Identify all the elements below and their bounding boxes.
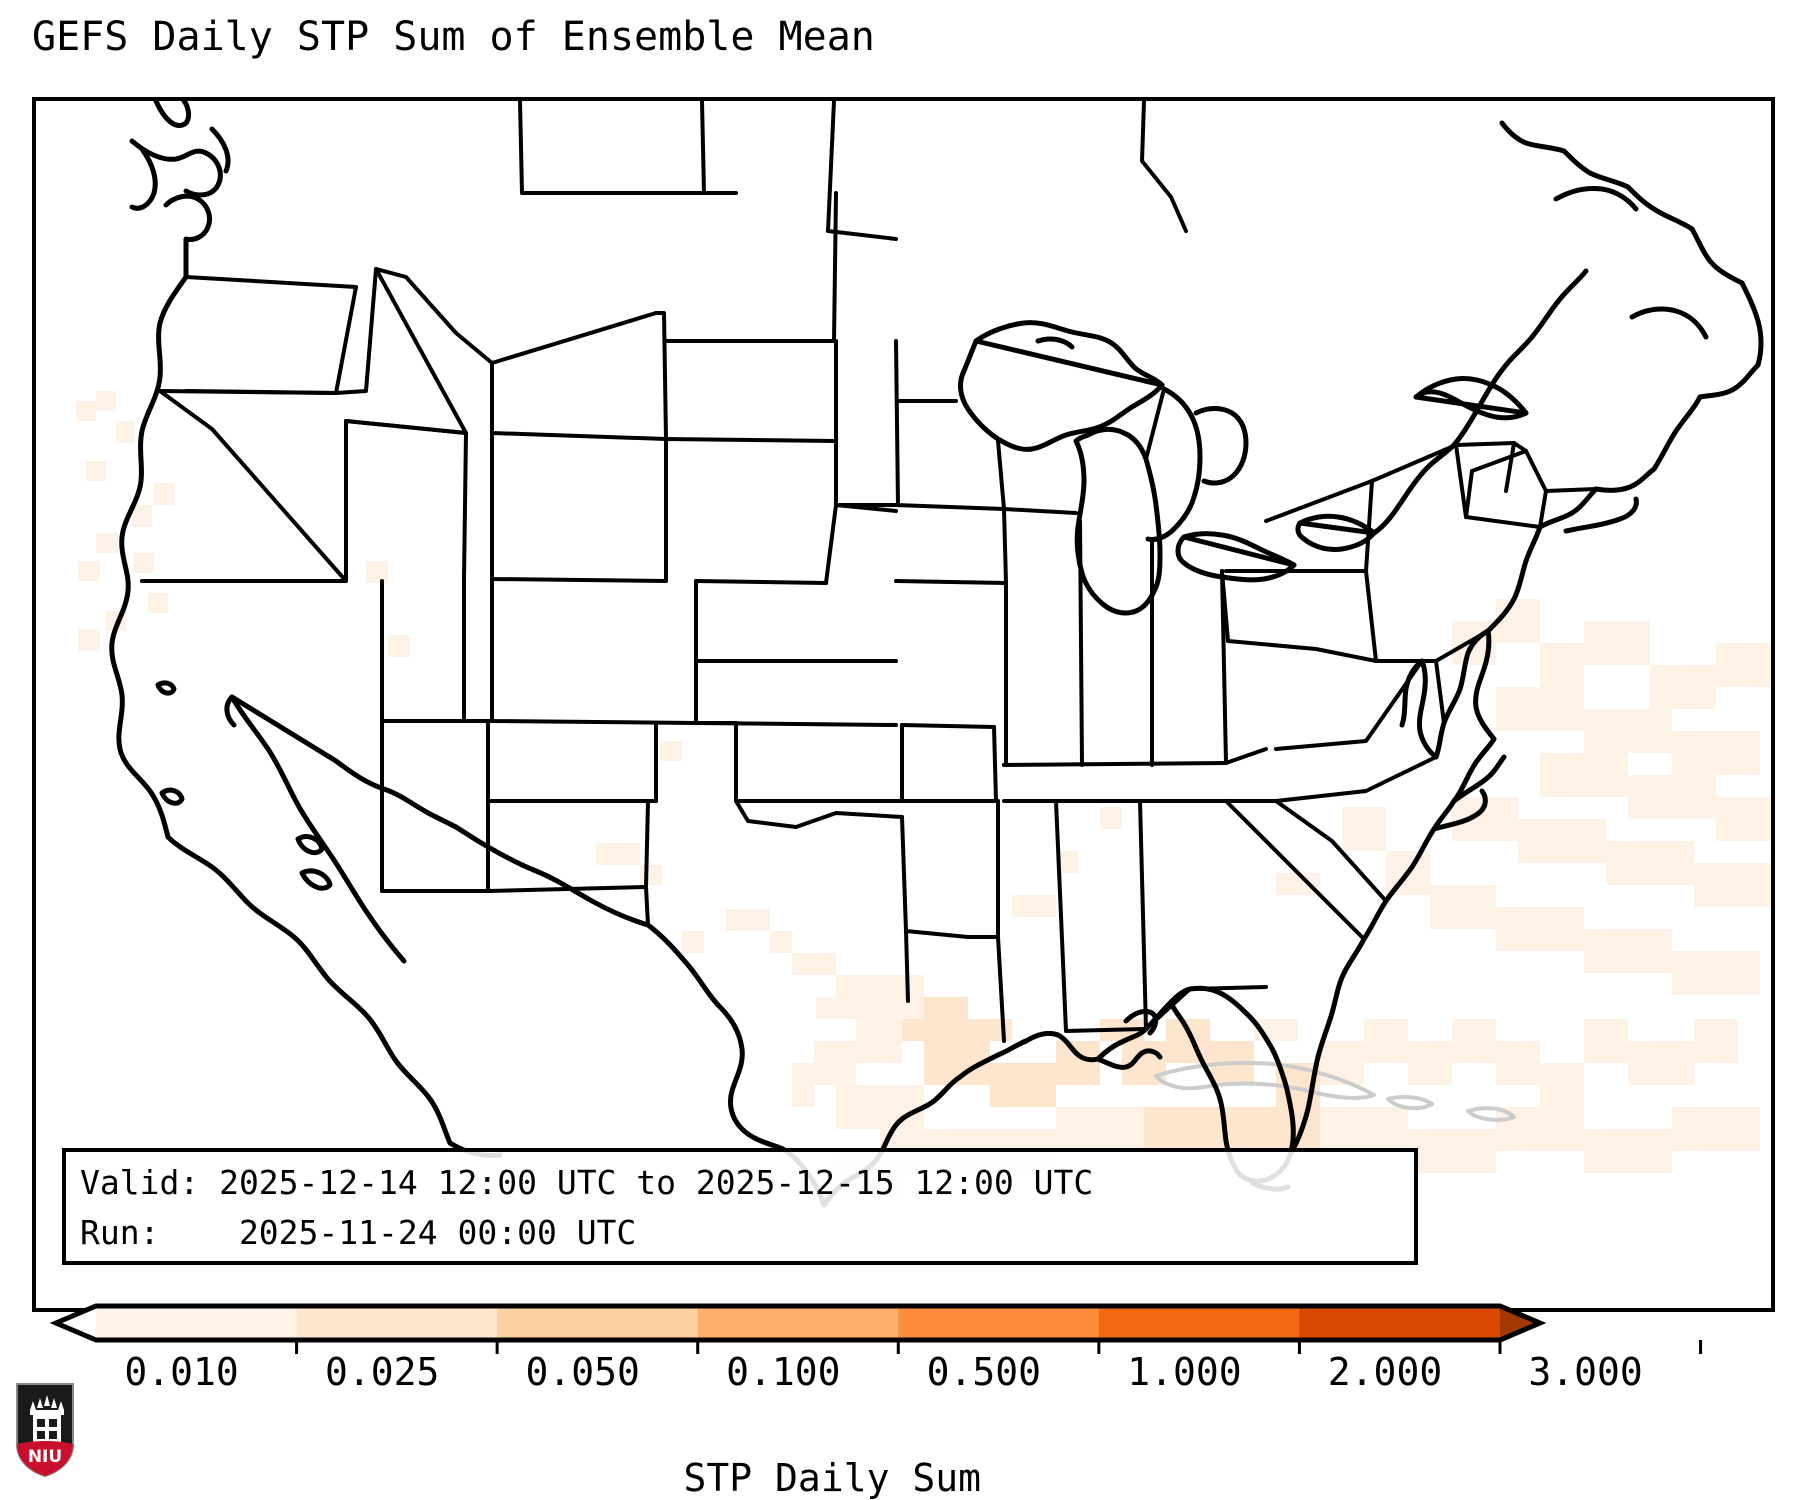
data-cell <box>1496 1041 1540 1085</box>
data-cell <box>1100 807 1122 829</box>
data-cell <box>770 931 792 953</box>
data-cell <box>814 1041 856 1085</box>
data-cell <box>816 997 880 1019</box>
data-cell <box>726 909 770 931</box>
data-cell <box>1540 1063 1584 1107</box>
data-cell <box>86 461 106 481</box>
data-cell <box>154 483 174 505</box>
colorbar-tick-label: 0.500 <box>927 1350 1041 1394</box>
colorbar-tick-labels: 0.0100.0250.0500.1000.5001.0002.0003.000 <box>0 1350 1803 1398</box>
data-cell <box>682 931 704 953</box>
data-cell <box>134 553 154 573</box>
data-grid-cells <box>76 391 1771 1195</box>
data-cell <box>856 1019 902 1063</box>
data-cell <box>1364 1019 1408 1063</box>
data-cell <box>1056 1041 1100 1085</box>
page-title: GEFS Daily STP Sum of Ensemble Mean <box>32 14 875 60</box>
data-cell <box>1584 1019 1628 1063</box>
colorbar-tick-label: 3.000 <box>1528 1350 1642 1394</box>
valid-time-line: Valid: 2025-12-14 12:00 UTC to 2025-12-1… <box>80 1158 1400 1208</box>
colorbar-tick-label: 0.010 <box>124 1350 238 1394</box>
data-cell <box>1584 1129 1672 1173</box>
data-cell <box>640 865 662 885</box>
data-cell <box>1320 1107 1408 1151</box>
data-cell <box>1276 873 1320 895</box>
data-cell <box>96 391 116 411</box>
data-cell <box>1672 1107 1760 1151</box>
colorbar-tick-label: 0.100 <box>726 1350 840 1394</box>
data-cell <box>1408 1129 1496 1173</box>
map-panel[interactable] <box>32 97 1775 1312</box>
colorbar-title: STP Daily Sum <box>0 1412 1803 1500</box>
data-cell <box>1496 907 1584 951</box>
data-cell <box>1584 929 1672 973</box>
data-cell <box>366 561 388 583</box>
info-box: Valid: 2025-12-14 12:00 UTC to 2025-12-1… <box>62 1148 1418 1265</box>
colorbar-band <box>898 1306 1099 1340</box>
data-cell <box>78 629 100 651</box>
data-cell <box>388 635 410 657</box>
data-cell <box>924 997 968 1019</box>
data-cell <box>792 953 836 975</box>
provincial-borders <box>520 101 1186 239</box>
logo-text: NIU <box>28 1447 62 1467</box>
data-cell <box>1628 1041 1694 1085</box>
data-cell <box>1496 599 1540 643</box>
colorbar[interactable] <box>0 1296 1803 1356</box>
colorbar-band <box>1299 1306 1500 1340</box>
data-cell <box>1694 863 1771 907</box>
data-cell <box>660 741 682 761</box>
map-svg <box>36 101 1771 1308</box>
data-cell <box>1452 1019 1496 1063</box>
data-cell <box>1694 1019 1738 1063</box>
colorbar-band <box>297 1306 498 1340</box>
data-cell <box>96 533 118 553</box>
data-cell <box>1408 1041 1452 1085</box>
colorbar-band <box>698 1306 899 1340</box>
data-cell <box>792 1063 814 1107</box>
data-cell <box>76 401 96 421</box>
weather-map-figure: GEFS Daily STP Sum of Ensemble Mean <box>0 0 1803 1500</box>
data-cell <box>1144 1107 1232 1151</box>
data-cell <box>990 1063 1056 1107</box>
data-cell <box>836 975 880 997</box>
data-cell <box>836 1085 924 1129</box>
colorbar-title-text: STP Daily Sum <box>684 1456 981 1500</box>
data-cell <box>1716 643 1771 687</box>
colorbar-tick-label: 2.000 <box>1328 1350 1442 1394</box>
colorbar-tick-label: 1.000 <box>1127 1350 1241 1394</box>
data-cell <box>1672 951 1760 995</box>
data-cell <box>132 505 152 527</box>
data-cell <box>116 421 134 443</box>
data-cell <box>1540 643 1584 687</box>
data-cell <box>902 1019 968 1041</box>
colorbar-svg <box>0 1296 1803 1356</box>
niu-logo: NIU <box>14 1382 76 1478</box>
data-cell <box>1540 753 1628 797</box>
data-cell <box>1584 621 1650 665</box>
data-cell <box>1012 895 1056 917</box>
colorbar-tick-label: 0.050 <box>526 1350 640 1394</box>
data-cell <box>1584 709 1672 753</box>
colorbar-bands <box>56 1306 1540 1340</box>
data-cell <box>1430 885 1496 929</box>
data-cell <box>880 975 924 1019</box>
data-cell <box>1650 665 1716 709</box>
data-cell <box>1628 775 1716 819</box>
data-cell <box>1672 731 1760 775</box>
data-cell <box>1496 687 1584 731</box>
data-cell <box>1606 841 1694 885</box>
colorbar-band <box>96 1306 297 1340</box>
run-time-line: Run: 2025-11-24 00:00 UTC <box>80 1208 1400 1258</box>
data-cell <box>1518 819 1606 863</box>
colorbar-band <box>1099 1306 1300 1340</box>
data-cell <box>1342 807 1386 851</box>
colorbar-band <box>497 1306 698 1340</box>
data-cell <box>78 561 100 581</box>
data-cell <box>148 593 168 613</box>
data-cell <box>1056 1107 1144 1151</box>
data-cell <box>1716 797 1771 841</box>
data-cell <box>596 843 640 865</box>
colorbar-tick-label: 0.025 <box>325 1350 439 1394</box>
